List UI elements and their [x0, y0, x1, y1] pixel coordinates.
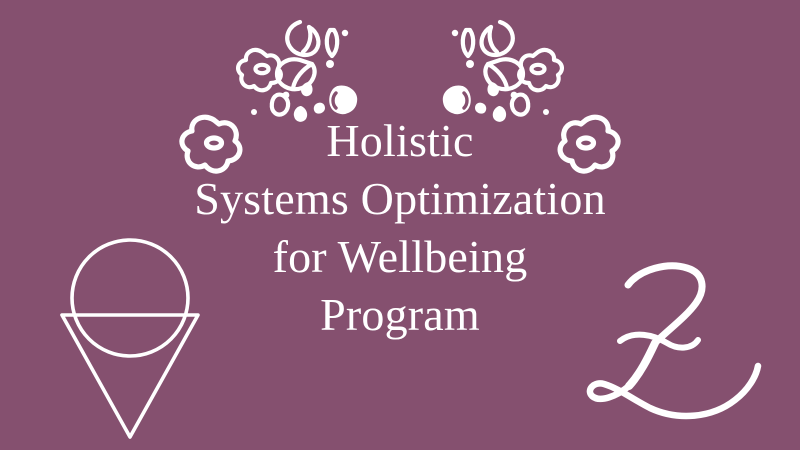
leaf-icon: [485, 59, 523, 89]
leaf-icon: [482, 22, 513, 55]
oval-accent-icon: [331, 88, 355, 112]
floral-cluster-left: [238, 22, 355, 122]
leaf-icon: [287, 22, 318, 55]
leaf-icon: [277, 59, 315, 89]
page-title: Holistic Systems Optimization for Wellbe…: [0, 112, 800, 344]
flower-icon: [238, 50, 281, 90]
oval-accent-icon: [445, 88, 469, 112]
poster-canvas: Holistic Systems Optimization for Wellbe…: [0, 0, 800, 450]
flower-icon: [519, 50, 562, 90]
title-line-3: for Wellbeing: [0, 228, 800, 286]
dot-accents: [452, 30, 549, 122]
title-line-4: Program: [0, 286, 800, 344]
floral-cluster-right: [445, 22, 562, 122]
leaf-icon: [463, 30, 473, 56]
leaf-icon: [327, 30, 337, 56]
dot-accents: [251, 30, 348, 122]
title-line-1: Holistic: [0, 112, 800, 170]
title-line-2: Systems Optimization: [0, 170, 800, 228]
